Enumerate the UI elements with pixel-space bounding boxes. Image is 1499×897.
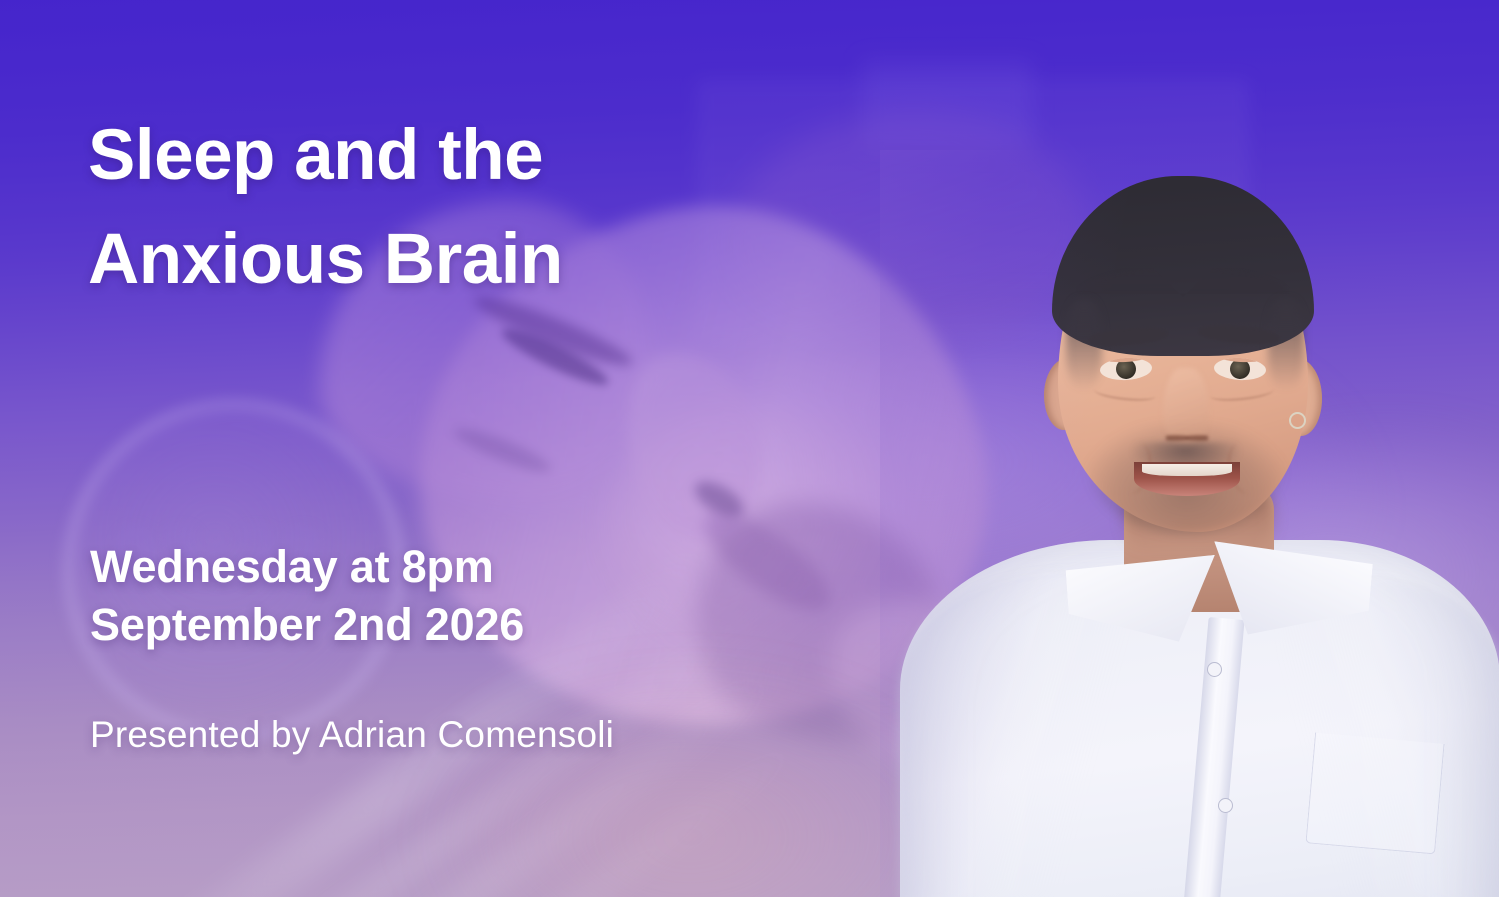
mouth [1134,462,1240,496]
page-title: Sleep and the Anxious Brain [88,104,808,311]
earring [1289,412,1306,429]
shirt-button [1218,798,1233,813]
event-date: September 2nd 2026 [90,596,850,654]
event-day-time: Wednesday at 8pm [90,538,850,596]
title-line-1: Sleep and the [88,104,808,208]
teeth [1142,464,1232,476]
presenter-credit: Presented by Adrian Comensoli [90,714,614,756]
shirt-button [1207,662,1222,677]
title-line-2: Anxious Brain [88,208,808,312]
shirt-chest-pocket [1305,733,1444,855]
event-datetime: Wednesday at 8pm September 2nd 2026 [90,538,850,653]
presenter-portrait [880,150,1499,897]
sideburn-right [1268,300,1304,390]
webinar-promo-banner: 03:23 [0,0,1499,897]
